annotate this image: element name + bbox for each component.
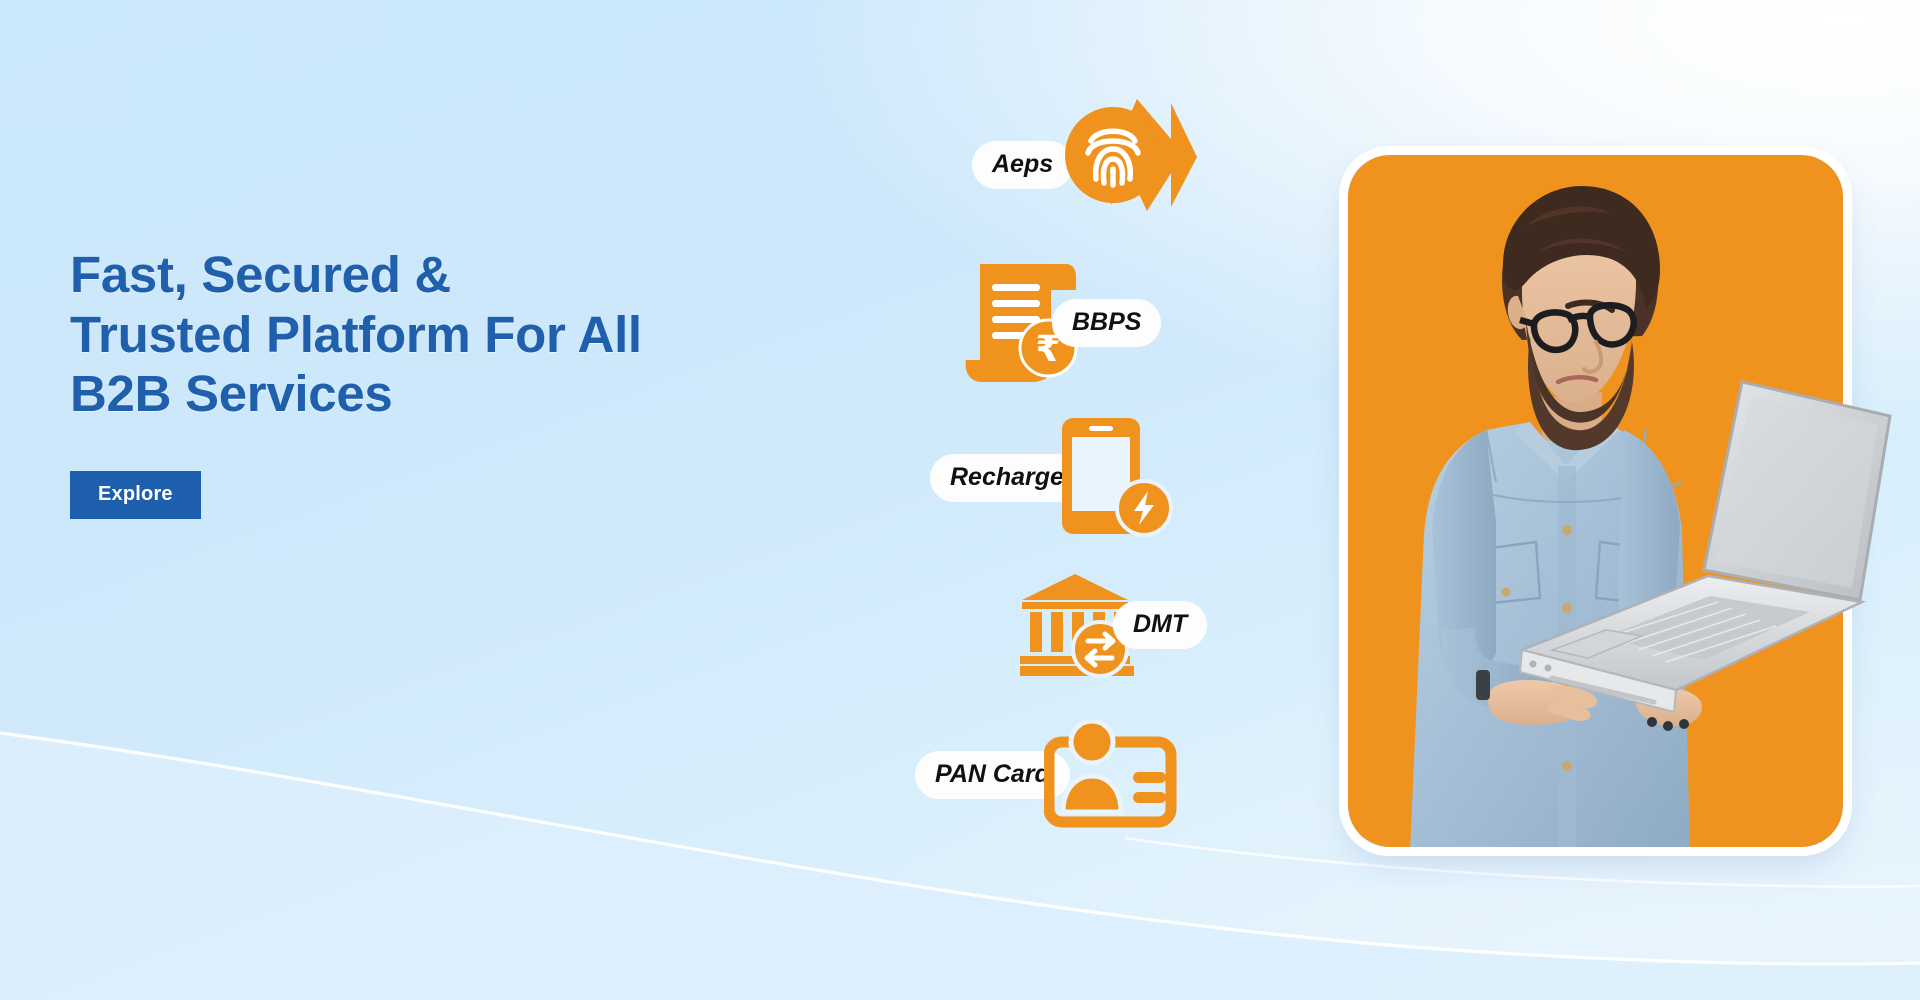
service-item-recharge[interactable]: Recharge	[930, 415, 1174, 540]
service-label-dmt: DMT	[1113, 601, 1207, 649]
id-card-icon	[1044, 720, 1179, 830]
service-item-aeps[interactable]: Aeps	[972, 95, 1201, 235]
service-item-pan-card[interactable]: PAN Card	[915, 720, 1179, 830]
man-with-laptop-photo	[1290, 130, 1920, 860]
explore-button[interactable]: Explore	[70, 471, 201, 519]
page-title: Fast, Secured & Trusted Platform For All…	[70, 245, 830, 424]
fingerprint-icon	[1051, 95, 1201, 235]
hero-banner: Fast, Secured & Trusted Platform For All…	[0, 0, 1920, 1000]
service-item-bbps[interactable]: ₹ BBPS	[960, 260, 1161, 385]
service-item-dmt[interactable]: DMT	[1020, 570, 1207, 680]
phone-bolt-icon	[1056, 415, 1174, 540]
hero-copy-block: Fast, Secured & Trusted Platform For All…	[70, 245, 830, 519]
service-label-bbps: BBPS	[1052, 299, 1161, 347]
